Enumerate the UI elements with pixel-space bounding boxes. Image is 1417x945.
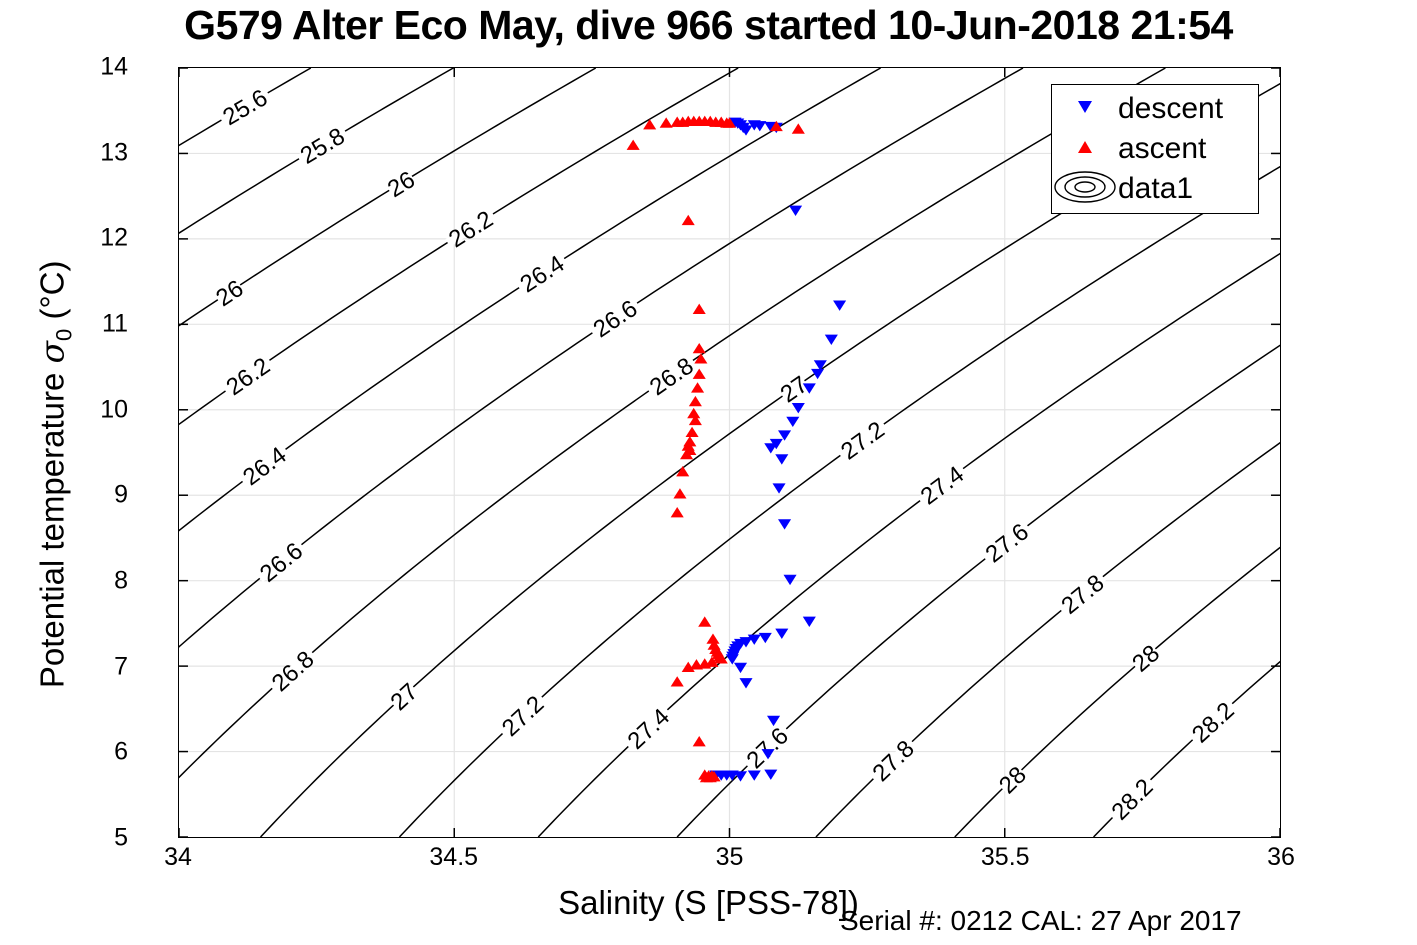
data-point-ascent bbox=[699, 617, 711, 626]
data-point-ascent bbox=[690, 660, 702, 669]
data-point-ascent bbox=[693, 344, 705, 353]
data-point-descent bbox=[768, 716, 780, 725]
y-axis-title: Potential temperature σ0 (°C) bbox=[33, 154, 78, 794]
data-point-descent bbox=[735, 663, 747, 672]
legend-label-ascent: ascent bbox=[1118, 134, 1206, 164]
data-point-ascent bbox=[689, 396, 701, 405]
data-point-ascent bbox=[686, 427, 698, 436]
serial-annotation: Serial #: 0212 CAL: 27 Apr 2017 bbox=[840, 905, 1242, 937]
legend[interactable]: descent ascent data1 bbox=[1051, 84, 1259, 214]
svg-text:26: 26 bbox=[383, 166, 420, 203]
data-point-ascent bbox=[627, 140, 639, 149]
data-point-descent bbox=[765, 770, 777, 779]
y-tick-label: 5 bbox=[8, 824, 128, 853]
data-point-descent bbox=[740, 678, 752, 687]
data-point-ascent bbox=[693, 737, 705, 746]
data-point-ascent bbox=[671, 508, 683, 517]
x-tick-label: 35.5 bbox=[945, 843, 1065, 872]
data-point-descent bbox=[814, 361, 826, 370]
data-point-descent bbox=[765, 443, 777, 452]
data-point-descent bbox=[784, 575, 796, 584]
y-tick-label: 14 bbox=[8, 53, 128, 82]
data-point-descent bbox=[748, 771, 760, 780]
data-point-descent bbox=[834, 301, 846, 310]
data-point-ascent bbox=[660, 118, 672, 127]
y-axis-title-unit: (°C) bbox=[34, 261, 71, 329]
data-point-descent bbox=[792, 403, 804, 412]
data-point-ascent bbox=[671, 677, 683, 686]
legend-item-data1[interactable]: data1 bbox=[1052, 169, 1258, 209]
data-point-ascent bbox=[682, 215, 694, 224]
data-point-descent bbox=[790, 206, 802, 215]
data-point-descent bbox=[726, 655, 738, 664]
triangle-up-icon bbox=[1052, 140, 1118, 158]
contour-ellipses-icon bbox=[1052, 170, 1118, 209]
legend-item-descent[interactable]: descent bbox=[1052, 89, 1258, 129]
x-tick-label: 34.5 bbox=[394, 843, 514, 872]
legend-item-ascent[interactable]: ascent bbox=[1052, 129, 1258, 169]
ts-diagram-figure: G579 Alter Eco May, dive 966 started 10-… bbox=[0, 0, 1417, 945]
figure-title: G579 Alter Eco May, dive 966 started 10-… bbox=[0, 2, 1417, 49]
data-point-descent bbox=[779, 431, 791, 440]
x-tick-label: 36 bbox=[1221, 843, 1341, 872]
data-point-descent bbox=[776, 455, 788, 464]
data-point-ascent bbox=[674, 489, 686, 498]
data-point-descent bbox=[776, 629, 788, 638]
data-point-descent bbox=[779, 520, 791, 529]
sigma-symbol: σ bbox=[33, 341, 72, 364]
data-point-descent bbox=[825, 335, 837, 344]
legend-label-data1: data1 bbox=[1118, 174, 1193, 204]
svg-text:26: 26 bbox=[211, 275, 248, 312]
data-markers bbox=[627, 116, 845, 782]
data-point-ascent bbox=[693, 304, 705, 313]
data-point-descent bbox=[759, 633, 771, 642]
legend-label-descent: descent bbox=[1118, 94, 1223, 124]
sigma-subscript: 0 bbox=[51, 329, 76, 341]
data-point-ascent bbox=[792, 124, 804, 133]
data-point-descent bbox=[787, 417, 799, 426]
data-point-descent bbox=[773, 484, 785, 493]
x-tick-label: 34 bbox=[118, 843, 238, 872]
x-tick-label: 35 bbox=[670, 843, 790, 872]
data-point-descent bbox=[803, 617, 815, 626]
data-point-ascent bbox=[692, 383, 704, 392]
svg-text:28: 28 bbox=[994, 761, 1032, 799]
y-axis-title-prefix: Potential temperature bbox=[34, 363, 71, 688]
triangle-down-icon bbox=[1052, 100, 1118, 118]
